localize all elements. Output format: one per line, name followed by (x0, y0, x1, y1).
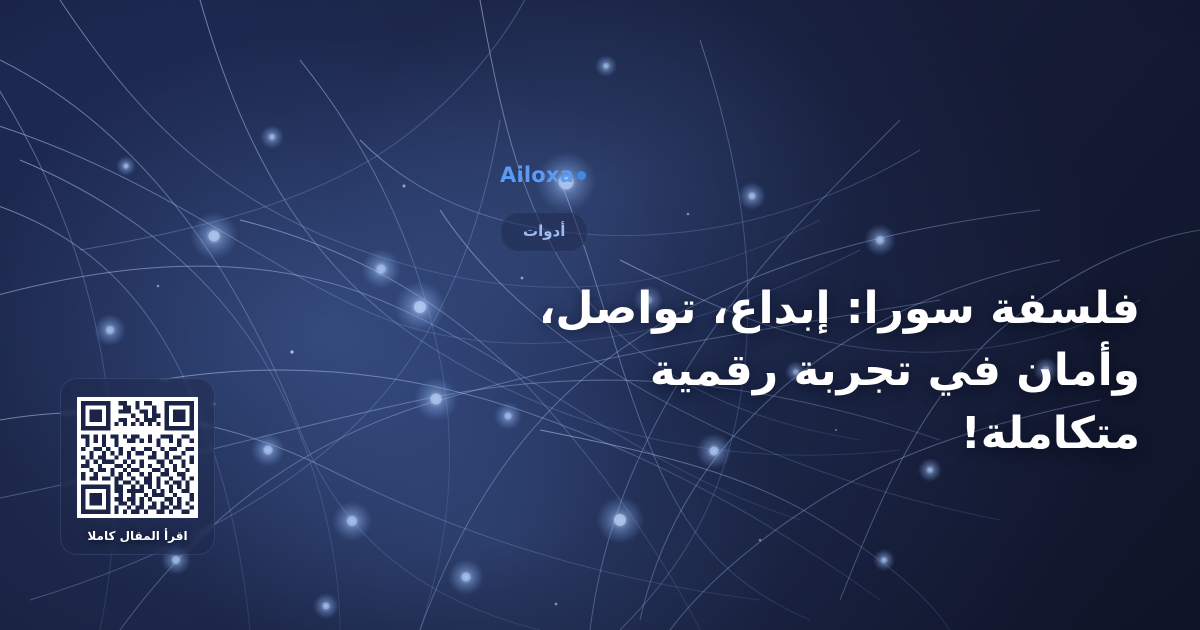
brand-dot-icon (577, 171, 586, 180)
category-badge-label: أدوات (523, 224, 565, 239)
qr-card[interactable]: اقرأ المقال كاملا (60, 378, 215, 555)
category-badge[interactable]: أدوات (500, 212, 588, 252)
page-title: فلسفة سورا: إبداع، تواصل، وأمان في تجربة… (500, 278, 1140, 465)
og-card: Ailoxa أدوات فلسفة سورا: إبداع، تواصل، و… (0, 0, 1200, 630)
content-column: Ailoxa أدوات فلسفة سورا: إبداع، تواصل، و… (500, 0, 1200, 630)
brand-name: Ailoxa (500, 165, 574, 186)
qr-code-icon (77, 397, 198, 518)
brand-logo[interactable]: Ailoxa (500, 165, 586, 186)
qr-caption: اقرأ المقال كاملا (87, 530, 187, 542)
